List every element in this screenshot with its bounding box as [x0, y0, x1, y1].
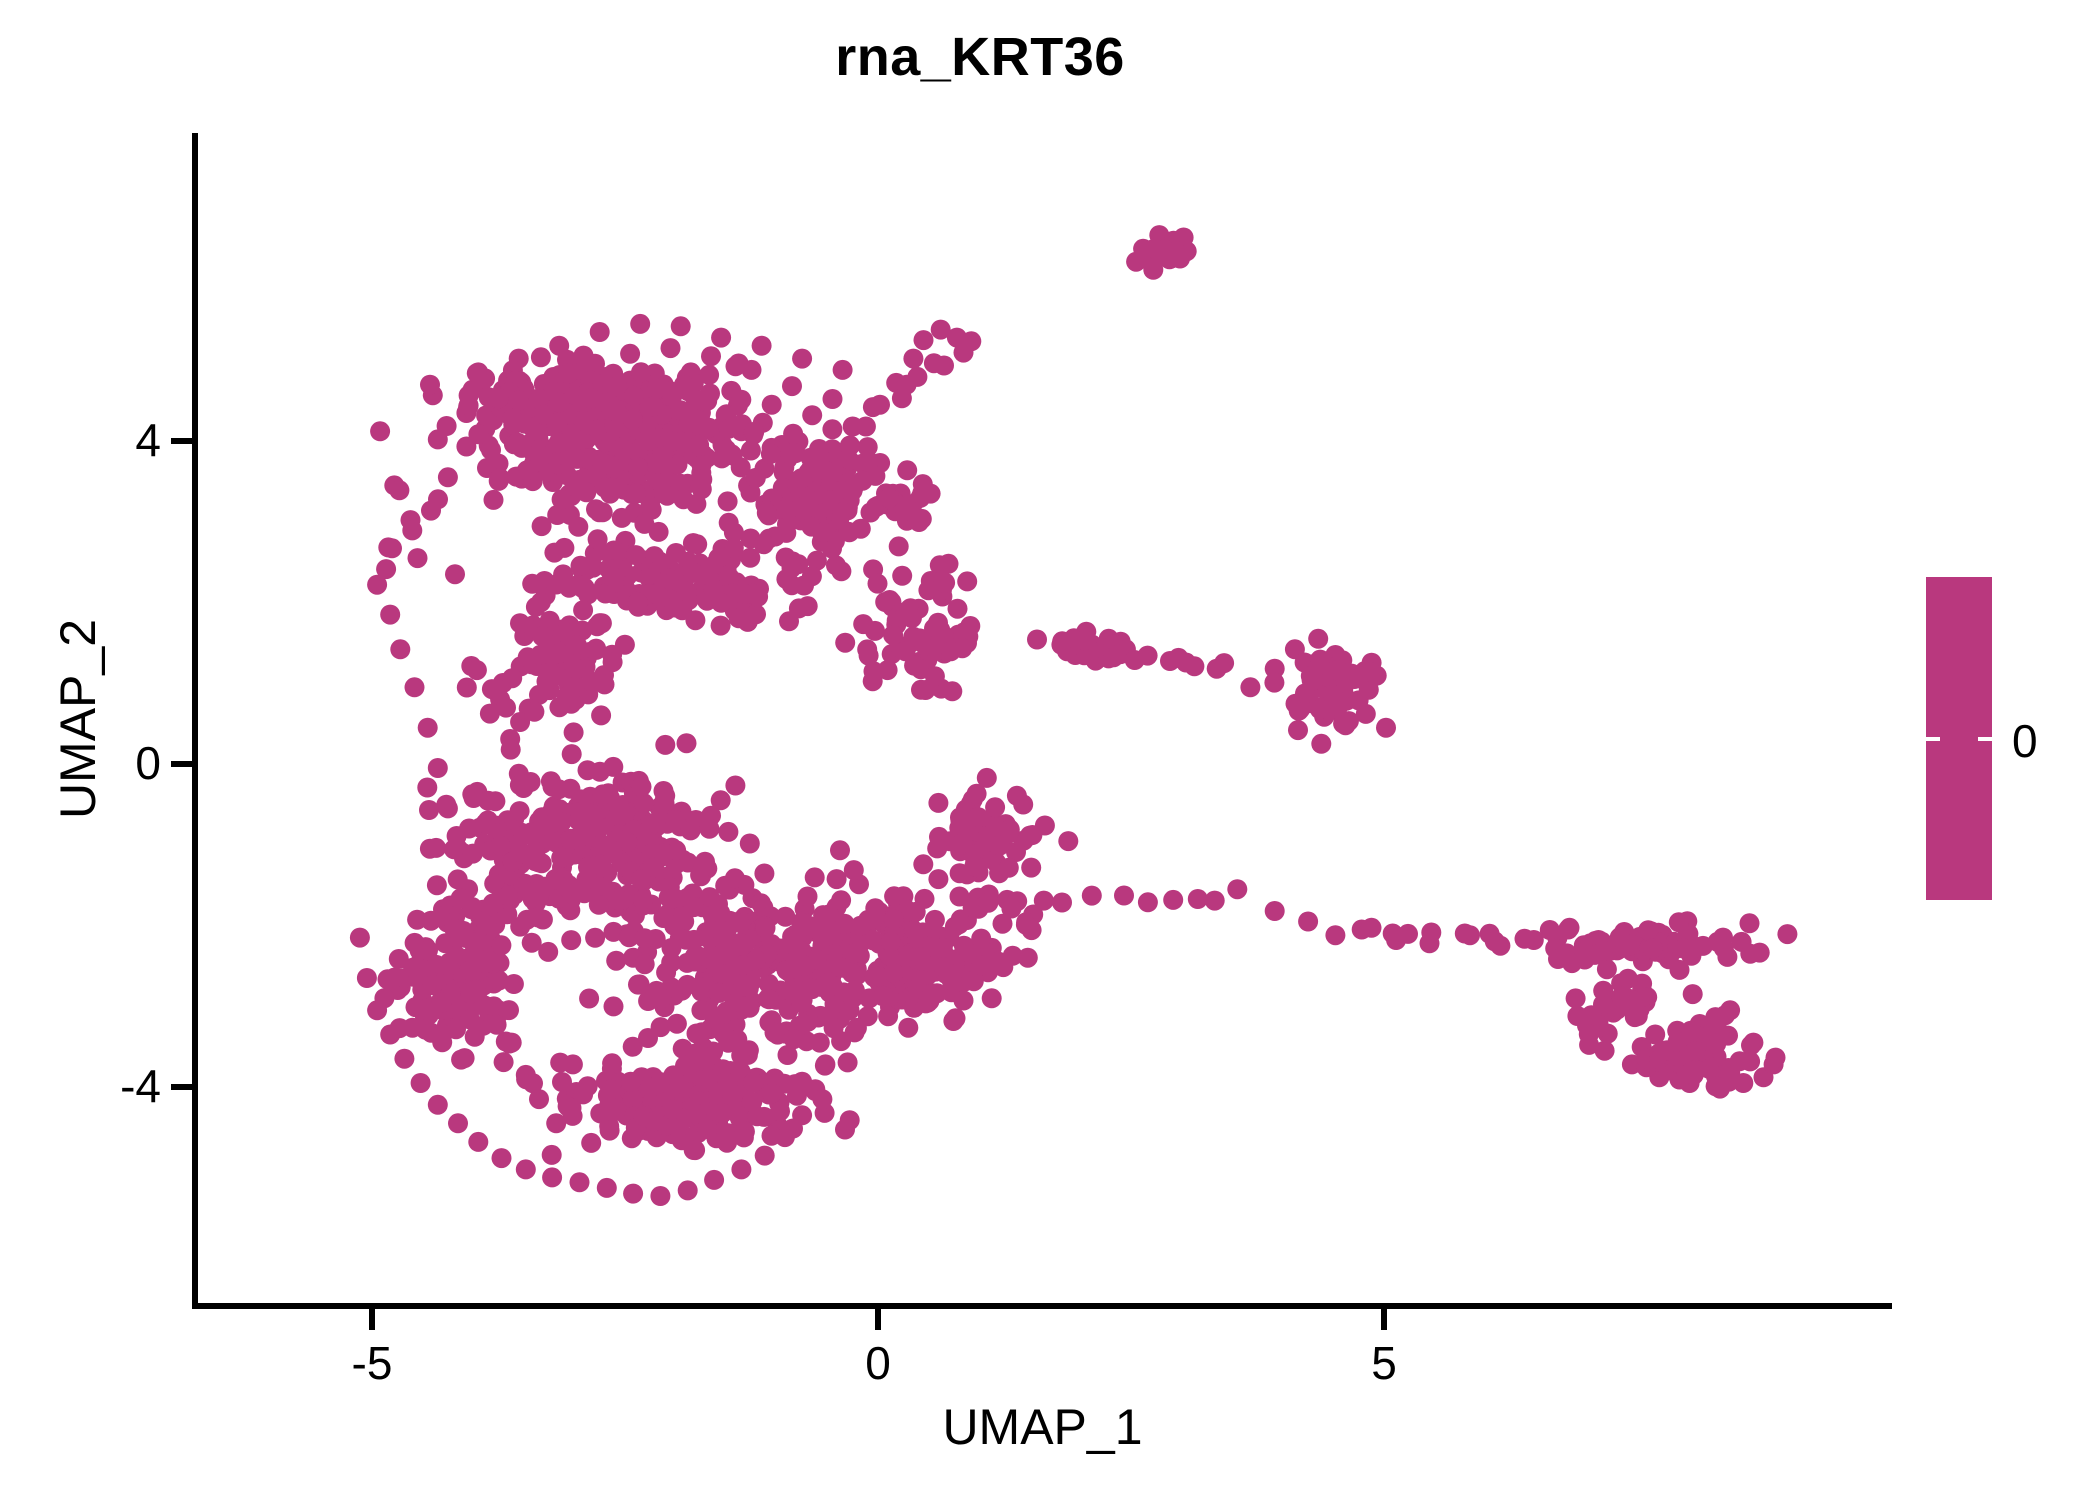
y-tick-mark — [171, 761, 193, 767]
scatter-point — [657, 486, 677, 506]
scatter-point — [678, 1180, 698, 1200]
scatter-point — [782, 376, 802, 396]
scatter-point — [1750, 943, 1770, 963]
scatter-point — [754, 534, 774, 554]
scatter-point — [593, 502, 613, 522]
scatter-point — [853, 471, 873, 491]
x-tick-label: -5 — [292, 1338, 452, 1388]
scatter-point — [1540, 920, 1560, 940]
scatter-point — [602, 567, 622, 587]
scatter-point — [432, 993, 452, 1013]
scatter-point — [870, 395, 890, 415]
scatter-point — [643, 397, 663, 417]
scatter-point — [897, 460, 917, 480]
scatter-point — [778, 1045, 798, 1065]
scatter-point — [419, 800, 439, 820]
scatter-point — [823, 976, 843, 996]
scatter-point — [954, 936, 974, 956]
scatter-point — [691, 1000, 711, 1020]
scatter-point — [741, 441, 761, 461]
scatter-point — [755, 1146, 775, 1166]
scatter-point — [620, 344, 640, 364]
scatter-point — [783, 424, 803, 444]
scatter-point — [552, 1072, 572, 1092]
scatter-point — [916, 680, 936, 700]
scatter-point — [701, 346, 721, 366]
scatter-point — [655, 735, 675, 755]
scatter-point — [851, 916, 871, 936]
scatter-point — [756, 918, 776, 938]
scatter-point — [889, 536, 909, 556]
scatter-point — [1138, 646, 1158, 666]
scatter-point — [436, 795, 456, 815]
scatter-point — [861, 503, 881, 523]
scatter-point — [484, 490, 504, 510]
scatter-point — [612, 508, 632, 528]
x-tick-label: 5 — [1304, 1338, 1464, 1388]
x-axis-title: UMAP_1 — [195, 1398, 1890, 1456]
scatter-point — [561, 930, 581, 950]
scatter-point — [911, 947, 931, 967]
x-tick-mark — [1381, 1308, 1387, 1330]
scatter-point — [961, 331, 981, 351]
scatter-point — [448, 869, 468, 889]
scatter-point — [814, 460, 834, 480]
scatter-point — [954, 991, 974, 1011]
scatter-point — [370, 421, 390, 441]
scatter-point — [489, 388, 509, 408]
colorbar-tick-right — [1978, 737, 1992, 741]
scatter-point — [650, 1073, 670, 1093]
scatter-point — [881, 932, 901, 952]
scatter-point — [927, 838, 947, 858]
scatter-point — [394, 1049, 414, 1069]
scatter-point — [444, 839, 464, 859]
scatter-point — [624, 386, 644, 406]
scatter-point — [1001, 899, 1021, 919]
scatter-point — [972, 955, 992, 975]
scatter-point — [609, 890, 629, 910]
scatter-point — [655, 844, 675, 864]
scatter-point — [685, 1140, 705, 1160]
scatter-point — [791, 913, 811, 933]
scatter-point — [812, 1089, 832, 1109]
scatter-point — [725, 776, 745, 796]
scatter-point — [1288, 720, 1308, 740]
scatter-point — [621, 1072, 641, 1092]
scatter-point — [740, 834, 760, 854]
scatter-point — [712, 1103, 732, 1123]
scatter-point — [783, 1119, 803, 1139]
scatter-point — [549, 779, 569, 799]
scatter-point — [623, 1184, 643, 1204]
scatter-point — [858, 452, 878, 472]
scatter-point — [600, 1121, 620, 1141]
scatter-point — [604, 996, 624, 1016]
scatter-point — [939, 554, 959, 574]
x-tick-mark — [369, 1308, 375, 1330]
scatter-point — [817, 1007, 837, 1027]
scatter-point — [734, 976, 754, 996]
scatter-point — [663, 888, 683, 908]
scatter-point — [923, 983, 943, 1003]
scatter-point — [941, 641, 961, 661]
scatter-point — [380, 605, 400, 625]
scatter-point — [655, 786, 675, 806]
scatter-point — [1104, 647, 1124, 667]
scatter-point — [595, 674, 615, 694]
scatter-point — [523, 1073, 543, 1093]
scatter-point — [448, 1113, 468, 1133]
scatter-point — [744, 422, 764, 442]
scatter-point — [491, 836, 511, 856]
scatter-point — [770, 1101, 790, 1121]
scatter-point — [595, 836, 615, 856]
scatter-point — [1295, 684, 1315, 704]
scatter-point — [589, 895, 609, 915]
scatter-point — [831, 890, 851, 910]
scatter-point — [1579, 1024, 1599, 1044]
scatter-point — [633, 890, 653, 910]
scatter-point — [531, 347, 551, 367]
scatter-point — [597, 1178, 617, 1198]
scatter-point — [606, 951, 626, 971]
scatter-point — [717, 1133, 737, 1153]
scatter-point — [467, 660, 487, 680]
scatter-point — [879, 488, 899, 508]
scatter-point — [1018, 948, 1038, 968]
scatter-point — [640, 497, 660, 517]
scatter-point — [710, 903, 730, 923]
scatter-point — [960, 616, 980, 636]
scatter-point — [699, 418, 719, 438]
scatter-point — [1706, 1034, 1726, 1054]
y-tick-mark — [171, 438, 193, 444]
scatter-point — [878, 1006, 898, 1026]
scatter-point — [875, 592, 895, 612]
scatter-point — [476, 813, 496, 833]
scatter-point — [568, 575, 588, 595]
scatter-point — [800, 978, 820, 998]
scatter-point — [884, 886, 904, 906]
scatter-point — [912, 483, 932, 503]
scatter-point — [528, 907, 548, 927]
scatter-point — [408, 548, 428, 568]
scatter-point — [1308, 629, 1328, 649]
scatter-point — [482, 679, 502, 699]
scatter-point — [585, 928, 605, 948]
scatter-point — [822, 419, 842, 439]
scatter-point — [833, 481, 853, 501]
scatter-point — [428, 489, 448, 509]
scatter-point — [677, 733, 697, 753]
scatter-point — [650, 1186, 670, 1206]
scatter-point — [566, 659, 586, 679]
scatter-point — [418, 940, 438, 960]
scatter-point — [874, 986, 894, 1006]
scatter-point — [762, 395, 782, 415]
scatter-point — [510, 613, 530, 633]
scatter-point — [694, 857, 714, 877]
scatter-point — [571, 556, 591, 576]
scatter-point — [1021, 858, 1041, 878]
scatter-point — [666, 543, 686, 563]
scatter-point — [663, 1100, 683, 1120]
scatter-point — [792, 349, 812, 369]
scatter-point — [570, 1172, 590, 1192]
scatter-point — [714, 1024, 734, 1044]
scatter-point — [831, 561, 851, 581]
scatter-point — [591, 705, 611, 725]
scatter-point — [490, 468, 510, 488]
scatter-point — [735, 1122, 755, 1142]
scatter-point — [560, 684, 580, 704]
scatter-point — [757, 503, 777, 523]
scatter-point — [1333, 714, 1353, 734]
scatter-point — [558, 364, 578, 384]
scatter-point — [1777, 924, 1797, 944]
scatter-point — [565, 476, 585, 496]
scatter-point — [711, 328, 731, 348]
scatter-point — [1717, 947, 1737, 967]
scatter-point — [1376, 718, 1396, 738]
scatter-point — [746, 604, 766, 624]
scatter-point — [545, 667, 565, 687]
scatter-point — [432, 1024, 452, 1044]
scatter-point — [1720, 1062, 1740, 1082]
y-axis-line — [192, 133, 198, 1309]
scatter-point — [684, 897, 704, 917]
scatter-point — [684, 930, 704, 950]
scatter-point — [563, 1054, 583, 1074]
scatter-point — [444, 919, 464, 939]
scatter-point — [754, 864, 774, 884]
scatter-point — [726, 356, 746, 376]
scatter-point — [978, 893, 998, 913]
scatter-point — [713, 925, 733, 945]
scatter-point — [542, 1145, 562, 1165]
scatter-point — [467, 363, 487, 383]
scatter-point — [463, 844, 483, 864]
scatter-point — [496, 698, 516, 718]
scatter-point — [677, 581, 697, 601]
scatter-point — [1188, 889, 1208, 909]
scatter-point — [420, 375, 440, 395]
scatter-point — [1145, 239, 1165, 259]
scatter-point — [532, 626, 552, 646]
scatter-point — [693, 1047, 713, 1067]
scatter-point — [915, 889, 935, 909]
umap-feature-plot: rna_KRT36 40-4-505 UMAP_1 UMAP_2 0 — [0, 0, 2100, 1500]
scatter-point — [382, 538, 402, 558]
scatter-point — [1205, 891, 1225, 911]
scatter-point — [856, 417, 876, 437]
scatter-point — [687, 1104, 707, 1124]
scatter-point — [535, 815, 555, 835]
scatter-point — [839, 522, 859, 542]
scatter-point — [1082, 886, 1102, 906]
scatter-point — [584, 805, 604, 825]
scatter-point — [1610, 927, 1630, 947]
scatter-point — [428, 1095, 448, 1115]
scatter-point — [1184, 656, 1204, 676]
scatter-point — [478, 791, 498, 811]
scatter-point — [665, 810, 685, 830]
scatter-point — [468, 1132, 488, 1152]
scatter-point — [573, 600, 593, 620]
scatter-point — [838, 1052, 858, 1072]
scatter-point — [985, 797, 1005, 817]
scatter-point — [833, 502, 853, 522]
scatter-point — [1674, 939, 1694, 959]
x-axis-line — [192, 1303, 1892, 1309]
scatter-point — [677, 975, 697, 995]
scatter-point — [517, 460, 537, 480]
scatter-point — [928, 793, 948, 813]
scatter-point — [802, 405, 822, 425]
scatter-point — [710, 547, 730, 567]
scatter-point — [542, 1167, 562, 1187]
scatter-point — [1349, 668, 1369, 688]
colorbar-tick-left — [1926, 737, 1940, 741]
scatter-point — [798, 887, 818, 907]
scatter-point — [632, 777, 652, 797]
scatter-point — [390, 639, 410, 659]
scatter-point — [1027, 630, 1047, 650]
scatter-point — [445, 564, 465, 584]
scatter-point — [1022, 920, 1042, 940]
scatter-point — [631, 362, 651, 382]
scatter-point — [718, 491, 738, 511]
scatter-point — [999, 858, 1019, 878]
scatter-point — [898, 602, 918, 622]
scatter-point — [437, 416, 457, 436]
scatter-point — [457, 678, 477, 698]
scatter-point — [1685, 1041, 1705, 1061]
scatter-point — [679, 407, 699, 427]
plot-panel — [195, 135, 1890, 1305]
scatter-point — [794, 576, 814, 596]
scatter-point — [903, 349, 923, 369]
scatter-point — [731, 1159, 751, 1179]
scatter-point — [521, 772, 541, 792]
scatter-point — [592, 453, 612, 473]
scatter-point — [777, 500, 797, 520]
scatter-point — [1638, 920, 1658, 940]
scatter-point — [692, 469, 712, 489]
scatter-point — [840, 436, 860, 456]
scatter-point — [704, 581, 724, 601]
scatter-point — [579, 989, 599, 1009]
scatter-point — [588, 529, 608, 549]
scatter-point — [420, 839, 440, 859]
scatter-point — [934, 957, 954, 977]
scatter-point — [785, 1074, 805, 1094]
scatter-point — [581, 1133, 601, 1153]
scatter-point — [635, 928, 655, 948]
scatter-point — [516, 1159, 536, 1179]
scatter-point — [417, 778, 437, 798]
scatter-point — [1325, 925, 1345, 945]
scatter-point — [605, 1101, 625, 1121]
scatter-point — [1289, 701, 1309, 721]
scatter-point — [590, 613, 610, 633]
scatter-point — [418, 718, 438, 738]
scatter-point — [718, 822, 738, 842]
scatter-point — [662, 938, 682, 958]
scatter-point — [1013, 795, 1033, 815]
scatter-point — [976, 832, 996, 852]
scatter-point — [567, 449, 587, 469]
scatter-point — [1560, 918, 1580, 938]
scatter-point — [687, 947, 707, 967]
scatter-point — [1058, 831, 1078, 851]
scatter-point — [883, 625, 903, 645]
scatter-point — [864, 661, 884, 681]
scatter-point — [692, 390, 712, 410]
scatter-point — [649, 522, 669, 542]
scatter-point — [1138, 892, 1158, 912]
scatter-point — [967, 784, 987, 804]
scatter-point — [376, 559, 396, 579]
scatter-point — [892, 566, 912, 586]
scatter-point — [821, 920, 841, 940]
scatter-point — [1310, 654, 1330, 674]
scatter-point — [427, 875, 447, 895]
scatter-point — [595, 478, 615, 498]
scatter-point — [500, 1034, 520, 1054]
scatter-point — [661, 338, 681, 358]
y-axis-title: UMAP_2 — [49, 399, 107, 1039]
scatter-point — [403, 1018, 423, 1038]
scatter-point — [776, 569, 796, 589]
scatter-point — [738, 996, 758, 1016]
scatter-point — [603, 652, 623, 672]
scatter-point — [742, 1092, 762, 1112]
scatter-point — [468, 424, 488, 444]
scatter-point — [830, 840, 850, 860]
scatter-point — [564, 722, 584, 742]
scatter-point — [671, 316, 691, 336]
scatter-point — [653, 908, 673, 928]
scatter-point — [438, 956, 458, 976]
scatter-point — [646, 584, 666, 604]
scatter-point — [626, 545, 646, 565]
scatter-point — [789, 598, 809, 618]
scatter-point — [1074, 630, 1094, 650]
scatter-point — [761, 444, 781, 464]
scatter-point — [522, 574, 542, 594]
scatter-point — [1624, 991, 1644, 1011]
scatter-point — [884, 963, 904, 983]
scatter-point — [752, 336, 772, 356]
scatter-point — [795, 956, 815, 976]
scatter-point — [468, 932, 488, 952]
scatter-point — [428, 758, 448, 778]
scatter-point — [762, 1083, 782, 1103]
scatter-point — [1686, 1060, 1706, 1080]
scatter-point — [460, 1009, 480, 1029]
scatter-point — [492, 1148, 512, 1168]
scatter-point — [483, 894, 503, 914]
scatter-point — [1548, 949, 1568, 969]
scatter-point — [494, 1052, 514, 1072]
scatter-point — [578, 857, 598, 877]
scatter-point — [628, 458, 648, 478]
scatter-point — [502, 668, 522, 688]
scatter-point — [514, 826, 534, 846]
scatter-point — [606, 400, 626, 420]
